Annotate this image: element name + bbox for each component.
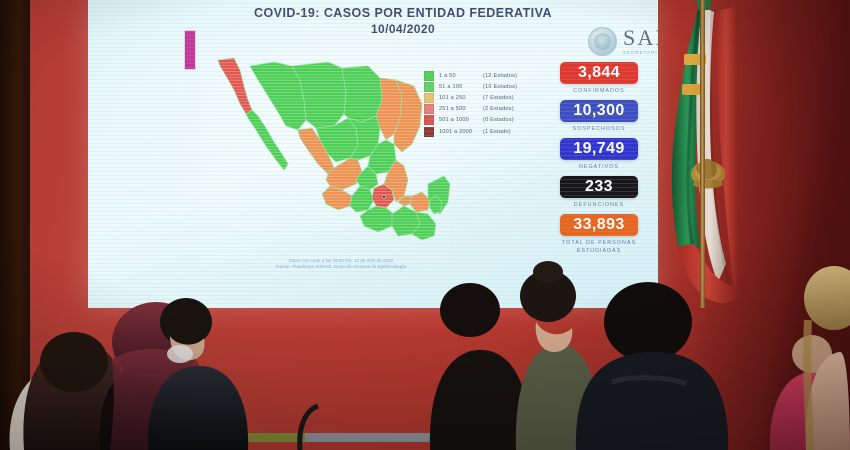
audience-person-6: [576, 282, 728, 450]
audience-group: [0, 250, 850, 450]
chair-back: [300, 406, 318, 450]
press-conference-photo: COVID-19: CASOS POR ENTIDAD FEDERATIVA 1…: [0, 0, 850, 450]
face-mask: [167, 345, 193, 363]
audience-person-4: [430, 283, 530, 450]
audience-person-8: [804, 266, 850, 450]
